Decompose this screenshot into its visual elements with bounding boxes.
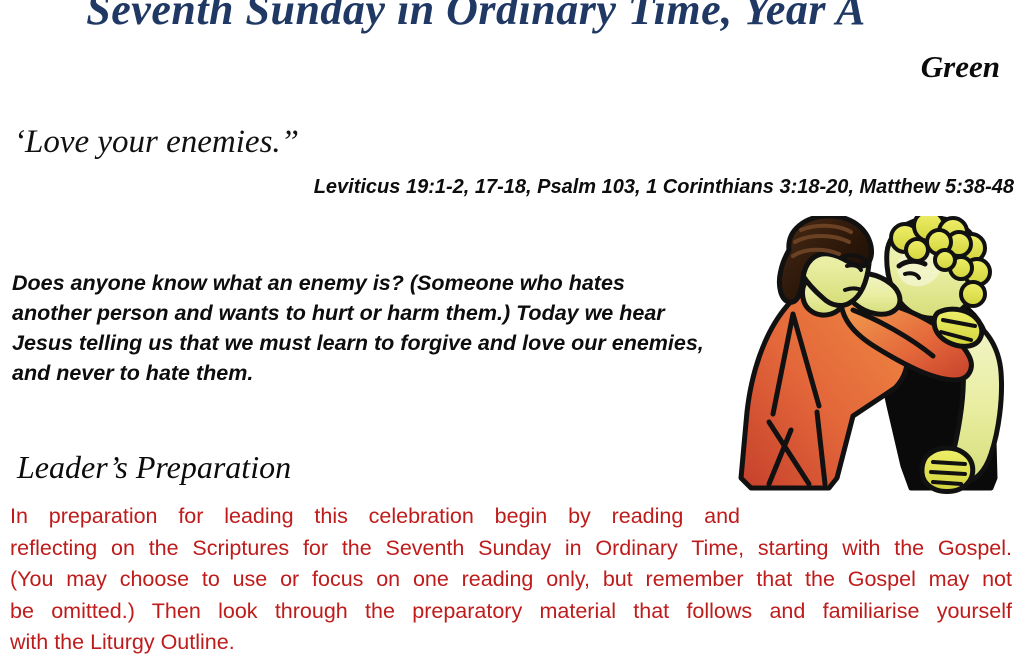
- left-figure-mouth: [845, 289, 861, 291]
- preparation-line: be omitted.) Then look through the prepa…: [10, 596, 1012, 628]
- liturgical-colour-label: Green: [921, 49, 1000, 85]
- intro-line: Jesus telling us that we must learn to f…: [12, 328, 715, 358]
- leaders-preparation-paragraph: In preparation for leading this celebrat…: [10, 501, 1012, 659]
- intro-line: another person and wants to hurt or harm…: [12, 298, 715, 328]
- document-page: Seventh Sunday in Ordinary Time, Year A …: [0, 0, 1030, 666]
- scripture-citations: Leviticus 19:1-2, 17-18, Psalm 103, 1 Co…: [0, 176, 1014, 199]
- preparation-line: with the Liturgy Outline.: [10, 627, 1012, 659]
- intro-line: and never to hate them.: [12, 358, 715, 388]
- intro-line: Does anyone know what an enemy is? (Some…: [12, 268, 715, 298]
- page-title: Seventh Sunday in Ordinary Time, Year A: [0, 0, 952, 35]
- two-figures-embracing-illustration: [733, 216, 1021, 498]
- preparation-line: reflecting on the Scriptures for the Sev…: [10, 533, 1012, 565]
- preparation-line: (You may choose to use or focus on one r…: [10, 564, 1012, 596]
- leaders-preparation-heading: Leader’s Preparation: [17, 449, 291, 486]
- preparation-line: In preparation for leading this celebrat…: [10, 501, 740, 533]
- introduction-paragraph: Does anyone know what an enemy is? (Some…: [12, 268, 715, 388]
- illustration-artwork: [741, 216, 1002, 492]
- scripture-quote: ‘Love your enemies.”: [14, 124, 299, 161]
